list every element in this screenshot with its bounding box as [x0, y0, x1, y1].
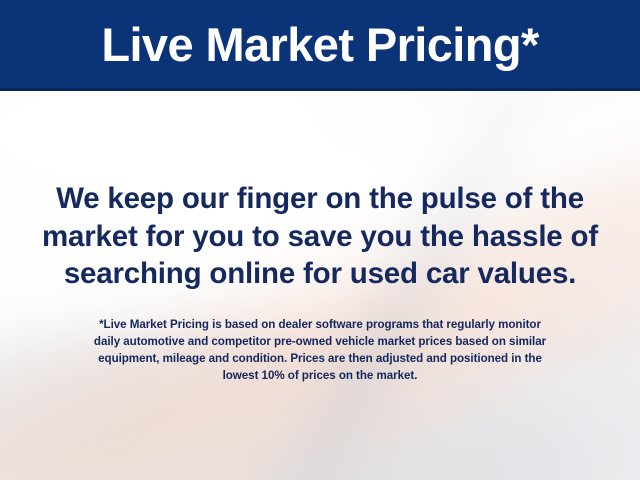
disclaimer-line-1: *Live Market Pricing is based on dealer …	[32, 316, 608, 333]
headline-block: We keep our finger on the pulse of the m…	[0, 180, 640, 293]
headline-line-3: searching online for used car values.	[18, 255, 622, 293]
live-market-pricing-promo-card: Live Market Pricing* We keep our finger …	[0, 0, 640, 480]
disclaimer-line-2: daily automotive and competitor pre-owne…	[32, 333, 608, 350]
disclaimer-block: *Live Market Pricing is based on dealer …	[32, 316, 608, 384]
headline-line-2: market for you to save you the hassle of	[18, 218, 622, 256]
header-band: Live Market Pricing*	[0, 0, 640, 91]
page-title: Live Market Pricing*	[101, 21, 538, 71]
headline-line-1: We keep our finger on the pulse of the	[18, 180, 622, 218]
disclaimer-line-4: lowest 10% of prices on the market.	[32, 367, 608, 384]
disclaimer-line-3: equipment, mileage and condition. Prices…	[32, 350, 608, 367]
content-area: We keep our finger on the pulse of the m…	[0, 94, 640, 480]
